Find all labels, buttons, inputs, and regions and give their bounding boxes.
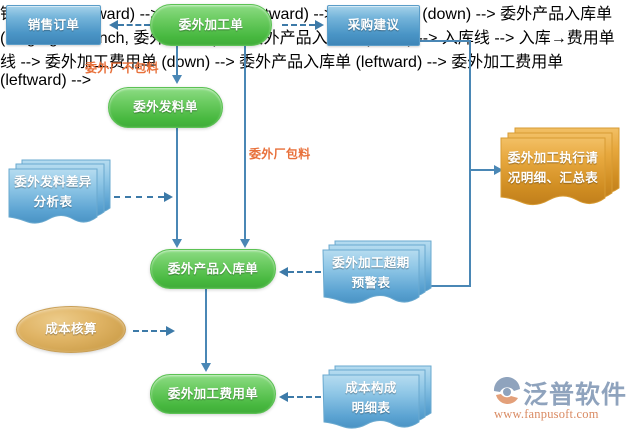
report-overdue-warning-label: 委外加工超期 预警表: [323, 252, 419, 294]
edge-variance-report-to-receipt: [114, 196, 164, 198]
node-outsource-processing-fee[interactable]: 委外加工费用单: [150, 374, 276, 414]
report-line-2: 分析表: [34, 192, 73, 212]
edge-process-to-sales-order-arrowhead: [109, 20, 118, 30]
node-purchase-suggestion[interactable]: 采购建议: [327, 5, 420, 46]
condition-label-no-material: 委外厂不包料: [85, 59, 159, 76]
node-outsource-process-order[interactable]: 委外加工单: [150, 4, 272, 46]
edge-process-to-purchase-suggestion-arrowhead: [315, 20, 324, 30]
edge-bus-vertical: [469, 40, 471, 287]
edge-overdue-report-to-receipt: [288, 271, 321, 273]
edge-process-to-receipt-arrowhead: [240, 239, 250, 248]
report-cost-composition-label: 成本构成 明细表: [323, 377, 419, 419]
node-outsource-product-receipt[interactable]: 委外产品入库单: [150, 249, 276, 289]
edge-receipt-to-fee-arrowhead: [201, 363, 211, 372]
condition-label-material: 委外厂包料: [249, 145, 311, 162]
report-line-2: 况明细、汇总表: [508, 168, 598, 188]
node-outsource-issue-order[interactable]: 委外发料单: [108, 87, 223, 128]
edge-process-to-issue: [176, 46, 178, 76]
report-overdue-warning[interactable]: 委外加工超期 预警表: [320, 239, 435, 311]
logo-wordmark: 泛普软件: [523, 375, 626, 411]
edge-process-to-sales-order: [118, 24, 150, 26]
edge-process-to-issue-arrowhead: [172, 75, 182, 84]
node-cost-accounting[interactable]: 成本核算: [16, 306, 126, 353]
edge-issue-to-receipt-arrowhead: [172, 239, 182, 248]
edge-receipt-to-fee: [205, 288, 207, 364]
report-line-2: 预警表: [352, 273, 391, 293]
edge-process-to-receipt: [244, 46, 246, 240]
report-line-2: 明细表: [352, 398, 391, 418]
report-line-1: 委外发料差异: [14, 172, 91, 192]
edge-issue-to-receipt: [176, 128, 178, 240]
report-line-1: 委外加工执行请: [508, 148, 598, 168]
edge-overdue-report-arrowhead: [279, 267, 288, 277]
node-sales-order[interactable]: 销售订单: [6, 5, 101, 45]
flowchart-canvas: 销售订单 (leftward) --> 采购建议 (rightward) -->…: [0, 0, 626, 435]
report-issue-variance-label: 委外发料差异 分析表: [9, 171, 97, 213]
fanpu-logo: 泛普软件 www.fanpusoft.com: [492, 375, 620, 427]
edge-variance-report-arrowhead: [164, 192, 173, 202]
report-cost-composition[interactable]: 成本构成 明细表: [320, 364, 435, 435]
report-execution-status-label: 委外加工执行请 况明细、汇总表: [501, 140, 605, 196]
edge-cost-accounting-arrowhead: [166, 326, 175, 336]
edge-bus-top: [420, 40, 470, 42]
edge-cost-accounting-to-flow: [133, 330, 166, 332]
edge-cost-report-arrowhead: [279, 392, 288, 402]
swoosh-logo-icon: [492, 377, 522, 405]
report-execution-status[interactable]: 委外加工执行请 况明细、汇总表: [499, 126, 623, 214]
logo-url: www.fanpusoft.com: [494, 407, 599, 422]
edge-cost-report-to-fee: [288, 396, 321, 398]
edge-process-to-purchase-suggestion: [282, 24, 315, 26]
report-line-1: 成本构成: [345, 378, 397, 398]
report-issue-variance[interactable]: 委外发料差异 分析表: [6, 158, 114, 232]
report-line-1: 委外加工超期: [332, 253, 409, 273]
